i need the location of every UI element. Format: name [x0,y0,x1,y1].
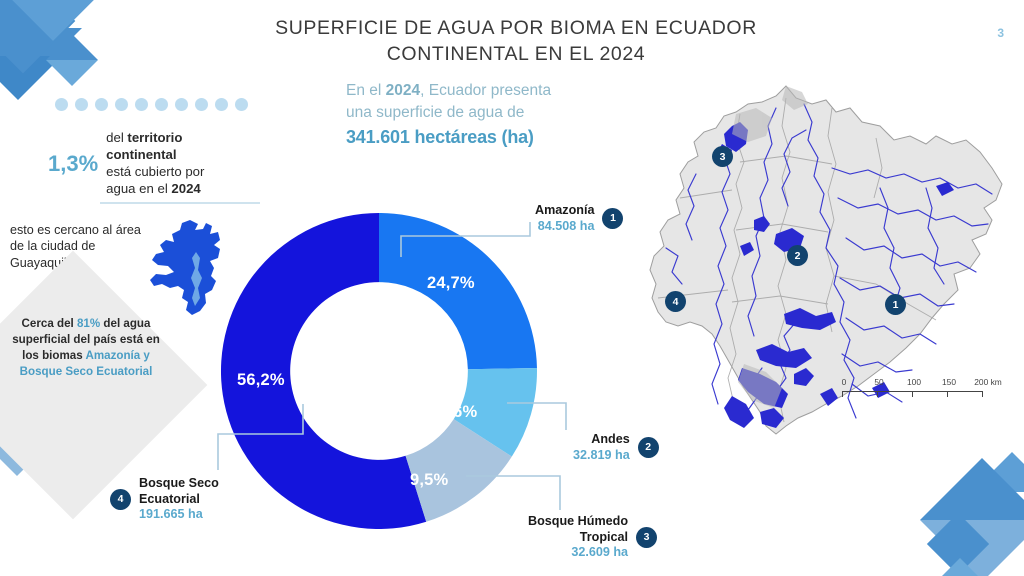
donut-chart: 24,7% 9,6% 9,5% 56,2% [214,196,544,546]
map-badge-1[interactable]: 1 [885,294,906,315]
callout-bosque-humedo-value: 32.609 ha [528,545,628,561]
callout-amazonia-badge: 1 [602,208,623,229]
subtitle-line2: una superficie de agua de [346,102,646,124]
callout-amazonia-value: 84.508 ha [535,219,594,235]
callout-bosque-seco-name-l2: Ecuatorial [139,492,219,508]
callout-bosque-humedo-name-l1: Bosque Húmedo [528,514,628,530]
scale-tick-1 [877,391,878,397]
subtitle-line1-pre: En el [346,82,386,99]
stat-line2-bold: continental [106,147,176,162]
callout-bosque-seco-badge: 4 [110,489,131,510]
highlight-diamond-text: Cerca del 81% del agua superficial del p… [4,316,168,380]
subtitle-block: En el 2024, Ecuador presenta una superfi… [346,80,646,151]
donut-percent-bosque-humedo: 9,5% [410,471,448,490]
stat-line3: está cubierto por [106,164,204,179]
callout-bosque-humedo-name-l2: Tropical [528,530,628,546]
decorative-corner-bottom-right [894,426,1024,576]
donut-percent-bosque-seco: 56,2% [237,371,285,390]
scale-tick-4 [982,391,983,397]
callout-bosque-humedo-badge: 3 [636,527,657,548]
map-badge-4[interactable]: 4 [665,291,686,312]
scale-label-200: 200 km [974,377,1001,387]
donut-percent-andes: 9,6% [439,403,477,422]
page-number: 3 [997,26,1004,40]
callout-andes-value: 32.819 ha [573,448,630,464]
scale-label-0: 0 [842,377,847,387]
stat-line1-bold: territorio [127,130,182,145]
donut-percent-amazonia: 24,7% [427,274,475,293]
subtitle-line1-post: , Ecuador presenta [420,82,551,99]
subtitle-year: 2024 [386,82,420,99]
map-badge-3[interactable]: 3 [712,146,733,167]
diamond-percent: 81% [77,317,100,330]
callout-bosque-seco-name-l1: Bosque Seco [139,476,219,492]
scale-tick-2 [912,391,913,397]
slide-canvas: SUPERFICIE DE AGUA POR BIOMA EN ECUADOR … [0,0,1024,576]
map-badge-2[interactable]: 2 [787,245,808,266]
stat-line4-bold: 2024 [171,181,200,196]
callout-bosque-humedo: Bosque Húmedo Tropical 32.609 ha 3 [528,514,657,561]
scale-label-150: 150 [942,377,956,387]
territory-stat-text: del territorio continental está cubierto… [106,130,204,198]
scale-label-100: 100 [907,377,921,387]
page-title: SUPERFICIE DE AGUA POR BIOMA EN ECUADOR … [236,16,796,67]
stat-line1-pre: del [106,130,127,145]
decorative-dot-row [55,98,248,111]
callout-amazonia-name: Amazonía [535,203,594,219]
scale-label-50: 50 [874,377,883,387]
callout-andes-name: Andes [573,432,630,448]
callout-bosque-seco-value: 191.665 ha [139,507,219,523]
scale-tick-3 [947,391,948,397]
callout-bosque-seco: 4 Bosque Seco Ecuatorial 191.665 ha [110,476,219,523]
scale-tick-0 [842,391,843,397]
territory-stat-block: 1,3% del territorio continental está cub… [48,130,263,198]
diamond-pre: Cerca del [22,317,77,330]
subtitle-hectares: 341.601 hectáreas (ha) [346,125,646,151]
stat-line4-pre: agua en el [106,181,171,196]
territory-percent: 1,3% [48,151,98,177]
callout-amazonia: Amazonía 84.508 ha 1 [535,203,623,234]
map-scale-bar: 0 50 100 150 200 km [842,377,992,413]
